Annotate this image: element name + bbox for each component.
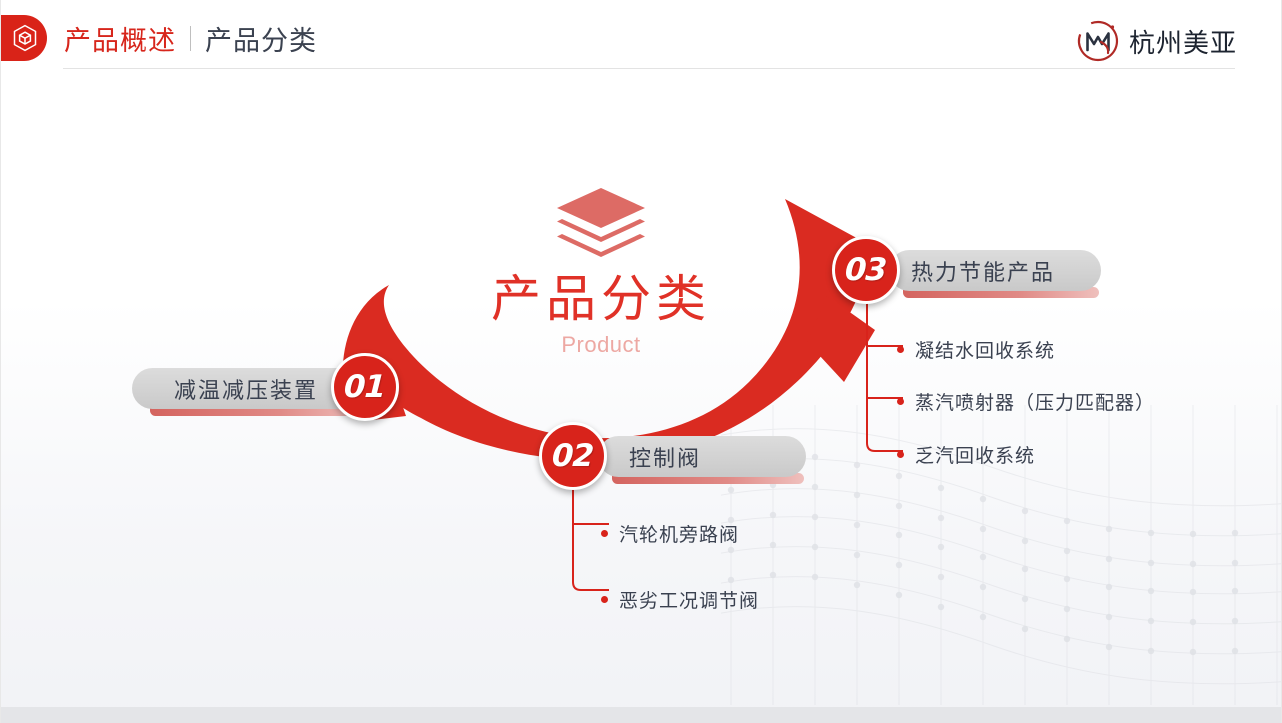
node-02-pill[interactable]: 控制阀 — [598, 436, 806, 477]
node-02-number: 02 — [551, 438, 594, 474]
bullet-dot-icon — [601, 596, 608, 603]
node-03-number-badge[interactable]: 03 — [832, 236, 900, 304]
node-03-sub-list: 凝结水回收系统 蒸汽喷射器（压力匹配器） 乏汽回收系统 — [897, 320, 1217, 470]
bullet-dot-icon — [897, 346, 904, 353]
node-02-label: 控制阀 — [629, 441, 701, 473]
node-01-number-badge[interactable]: 01 — [331, 353, 399, 421]
node-03-group[interactable]: 热力节能产品 — [889, 250, 1101, 291]
header-title-separator — [190, 26, 191, 51]
brand-lockup: 杭州美亚 — [1075, 18, 1237, 64]
node-02-sub-list: 汽轮机旁路阀 恶劣工况调节阀 — [601, 510, 881, 610]
header-breadcrumb: 产品概述 产品分类 — [64, 19, 317, 58]
layers-stack-icon — [554, 186, 648, 260]
center-subtitle: Product — [433, 332, 769, 358]
header-title-sub: 产品分类 — [205, 19, 317, 58]
list-item[interactable]: 汽轮机旁路阀 — [601, 520, 739, 547]
node-03-pill[interactable]: 热力节能产品 — [889, 250, 1101, 291]
node-01-number: 01 — [343, 369, 386, 405]
node-02-sub-label: 汽轮机旁路阀 — [619, 520, 739, 547]
node-03-sub-label: 蒸汽喷射器（压力匹配器） — [915, 388, 1155, 415]
header-title-main: 产品概述 — [64, 19, 176, 58]
brand-name: 杭州美亚 — [1129, 23, 1237, 60]
header-divider-rule — [63, 68, 1235, 69]
circle-m-logo — [1075, 18, 1121, 64]
center-title-block: 产品分类 Product — [433, 186, 769, 358]
list-item[interactable]: 蒸汽喷射器（压力匹配器） — [897, 388, 1155, 415]
bullet-dot-icon — [897, 398, 904, 405]
slide-canvas: 产品概述 产品分类 杭州美亚 — [0, 0, 1282, 723]
list-item[interactable]: 凝结水回收系统 — [897, 336, 1055, 363]
bullet-dot-icon — [601, 530, 608, 537]
node-03-sub-label: 凝结水回收系统 — [915, 336, 1055, 363]
center-title: 产品分类 — [433, 272, 769, 326]
node-03-sub-label: 乏汽回收系统 — [915, 441, 1035, 468]
node-02-group[interactable]: 控制阀 — [598, 436, 806, 477]
node-03-label: 热力节能产品 — [911, 255, 1055, 287]
node-01-label: 减温减压装置 — [174, 373, 318, 405]
bottom-bar — [1, 707, 1281, 723]
list-item[interactable]: 乏汽回收系统 — [897, 441, 1035, 468]
node-03-number: 03 — [844, 252, 887, 288]
cube-hexagon-icon — [0, 15, 47, 61]
slide-header: 产品概述 产品分类 杭州美亚 — [1, 0, 1281, 76]
bullet-dot-icon — [897, 451, 904, 458]
node-02-sub-label: 恶劣工况调节阀 — [619, 586, 759, 613]
node-02-number-badge[interactable]: 02 — [539, 422, 607, 490]
list-item[interactable]: 恶劣工况调节阀 — [601, 586, 759, 613]
